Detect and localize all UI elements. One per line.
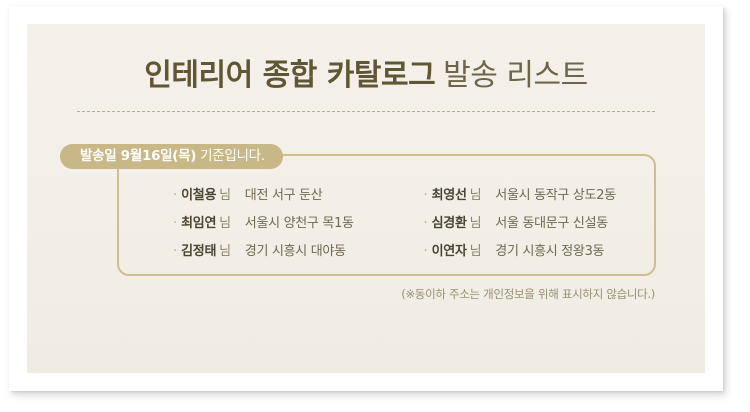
content-panel: 인테리어 종합 카탈로그발송 리스트 발송일 9월16일(목)기준입니다. · … (27, 24, 705, 373)
list-item: · 최임연 님 서울시 양천구 목1동 (173, 212, 389, 240)
recipient-honorific: 님 (219, 240, 231, 259)
bullet-icon: · (424, 189, 428, 202)
bullet-icon: · (424, 217, 428, 230)
shipping-date-value: 발송일 9월16일(목) (80, 148, 196, 164)
list-item: · 최영선 님 서울시 동작구 상도2동 (424, 184, 659, 212)
recipient-address: 경기 시흥시 대야동 (245, 240, 346, 259)
title-divider (77, 111, 655, 112)
recipient-column-left: · 이철용 님 대전 서구 둔산 · 최임연 님 서울시 양천구 목1동 · 김… (119, 184, 389, 268)
page-title-secondary: 발송 리스트 (443, 58, 588, 93)
shipping-date-suffix: 기준입니다. (200, 148, 265, 164)
list-item: · 이연자 님 경기 시흥시 정왕3동 (424, 240, 659, 268)
recipient-address: 서울 동대문구 신설동 (495, 212, 608, 231)
card-frame: 인테리어 종합 카탈로그발송 리스트 발송일 9월16일(목)기준입니다. · … (9, 6, 723, 391)
recipient-name: 이연자 (432, 240, 467, 259)
bullet-icon: · (173, 217, 177, 230)
page-title: 인테리어 종합 카탈로그발송 리스트 (27, 50, 705, 94)
recipient-address: 서울시 동작구 상도2동 (495, 184, 616, 203)
recipient-column-right: · 최영선 님 서울시 동작구 상도2동 · 심경환 님 서울 동대문구 신설동… (389, 184, 659, 268)
list-item: · 심경환 님 서울 동대문구 신설동 (424, 212, 659, 240)
recipient-address: 경기 시흥시 정왕3동 (495, 240, 604, 259)
list-item: · 이철용 님 대전 서구 둔산 (173, 184, 389, 212)
recipient-name: 최임연 (181, 212, 216, 231)
recipient-name: 김정태 (181, 240, 216, 259)
recipient-address: 서울시 양천구 목1동 (245, 212, 354, 231)
bullet-icon: · (424, 245, 428, 258)
recipient-honorific: 님 (470, 240, 482, 259)
bullet-icon: · (173, 245, 177, 258)
recipient-honorific: 님 (219, 212, 231, 231)
recipient-honorific: 님 (219, 184, 231, 203)
list-item: · 김정태 님 경기 시흥시 대야동 (173, 240, 389, 268)
recipient-address: 대전 서구 둔산 (245, 184, 323, 203)
recipient-name: 이철용 (181, 184, 216, 203)
privacy-footnote: (※동이하 주소는 개인정보을 위해 표시하지 않습니다.) (401, 286, 655, 302)
bullet-icon: · (173, 189, 177, 202)
page-title-primary: 인테리어 종합 카탈로그 (144, 58, 435, 93)
recipient-honorific: 님 (470, 184, 482, 203)
recipient-name: 심경환 (432, 212, 467, 231)
recipient-honorific: 님 (470, 212, 482, 231)
recipient-name: 최영선 (432, 184, 467, 203)
shipping-date-banner: 발송일 9월16일(목)기준입니다. (60, 144, 283, 169)
recipient-columns: · 이철용 님 대전 서구 둔산 · 최임연 님 서울시 양천구 목1동 · 김… (119, 184, 658, 268)
